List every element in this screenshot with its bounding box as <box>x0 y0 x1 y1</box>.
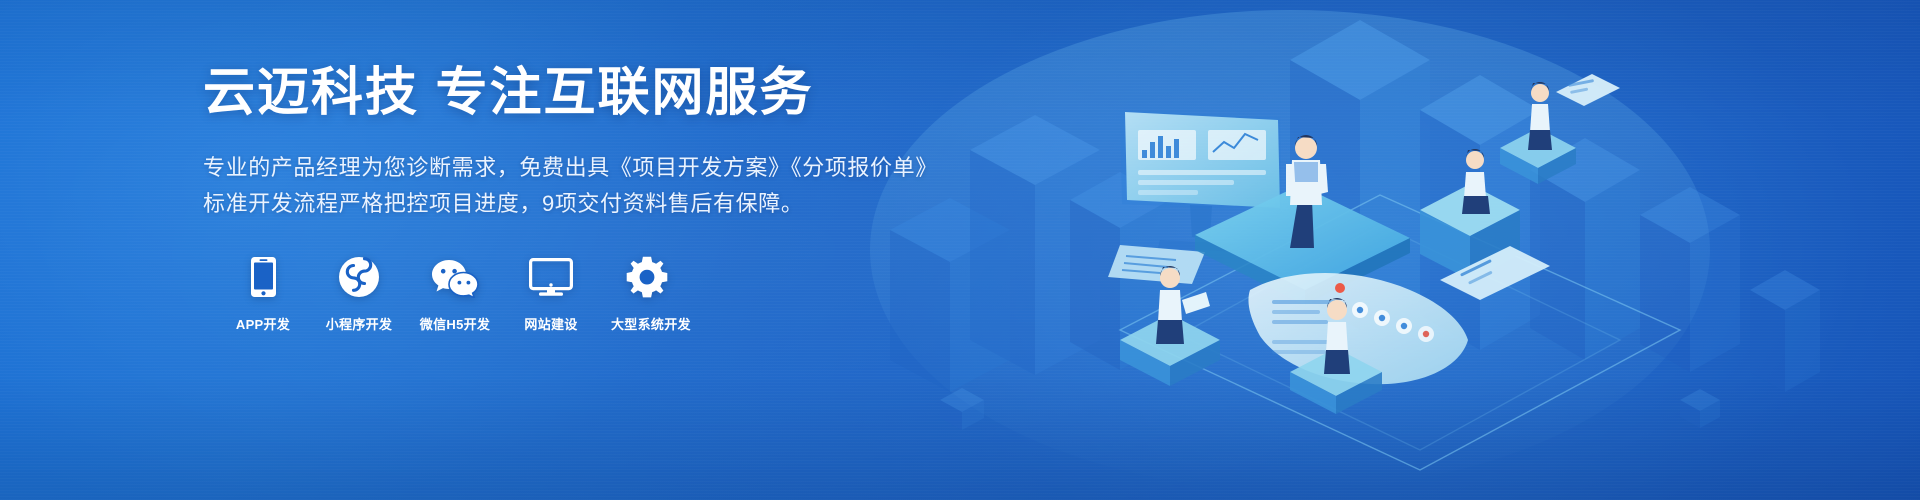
service-label: 微信H5开发 <box>419 314 491 333</box>
service-label: 网站建设 <box>515 314 587 333</box>
page-title: 云迈科技 专注互联网服务 <box>203 62 903 124</box>
mobile-phone-icon <box>227 256 299 298</box>
service-item-app[interactable]: APP开发 <box>227 256 299 333</box>
service-item-website[interactable]: 网站建设 <box>515 256 587 333</box>
service-label: 大型系统开发 <box>611 314 683 333</box>
subtitle-line-2: 标准开发流程严格把控项目进度，9项交付资料售后有保障。 <box>203 186 903 222</box>
subtitle-line-1: 专业的产品经理为您诊断需求，免费出具《项目开发方案》《分项报价单》 <box>203 150 903 186</box>
banner-subtitle: 专业的产品经理为您诊断需求，免费出具《项目开发方案》《分项报价单》 标准开发流程… <box>203 150 903 221</box>
mini-program-icon <box>323 256 395 298</box>
service-list: APP开发 小程序开发 <box>227 256 903 333</box>
monitor-icon <box>515 256 587 298</box>
service-item-miniprogram[interactable]: 小程序开发 <box>323 256 395 333</box>
service-label: APP开发 <box>227 314 299 333</box>
isometric-tech-illustration <box>820 0 1920 500</box>
service-item-system[interactable]: 大型系统开发 <box>611 256 683 333</box>
wechat-icon <box>419 256 491 298</box>
service-item-wechat[interactable]: 微信H5开发 <box>419 256 491 333</box>
gear-icon <box>611 256 683 298</box>
banner-content: 云迈科技 专注互联网服务 专业的产品经理为您诊断需求，免费出具《项目开发方案》《… <box>203 62 903 333</box>
service-label: 小程序开发 <box>323 314 395 333</box>
promo-banner: 云迈科技 专注互联网服务 专业的产品经理为您诊断需求，免费出具《项目开发方案》《… <box>0 0 1920 500</box>
